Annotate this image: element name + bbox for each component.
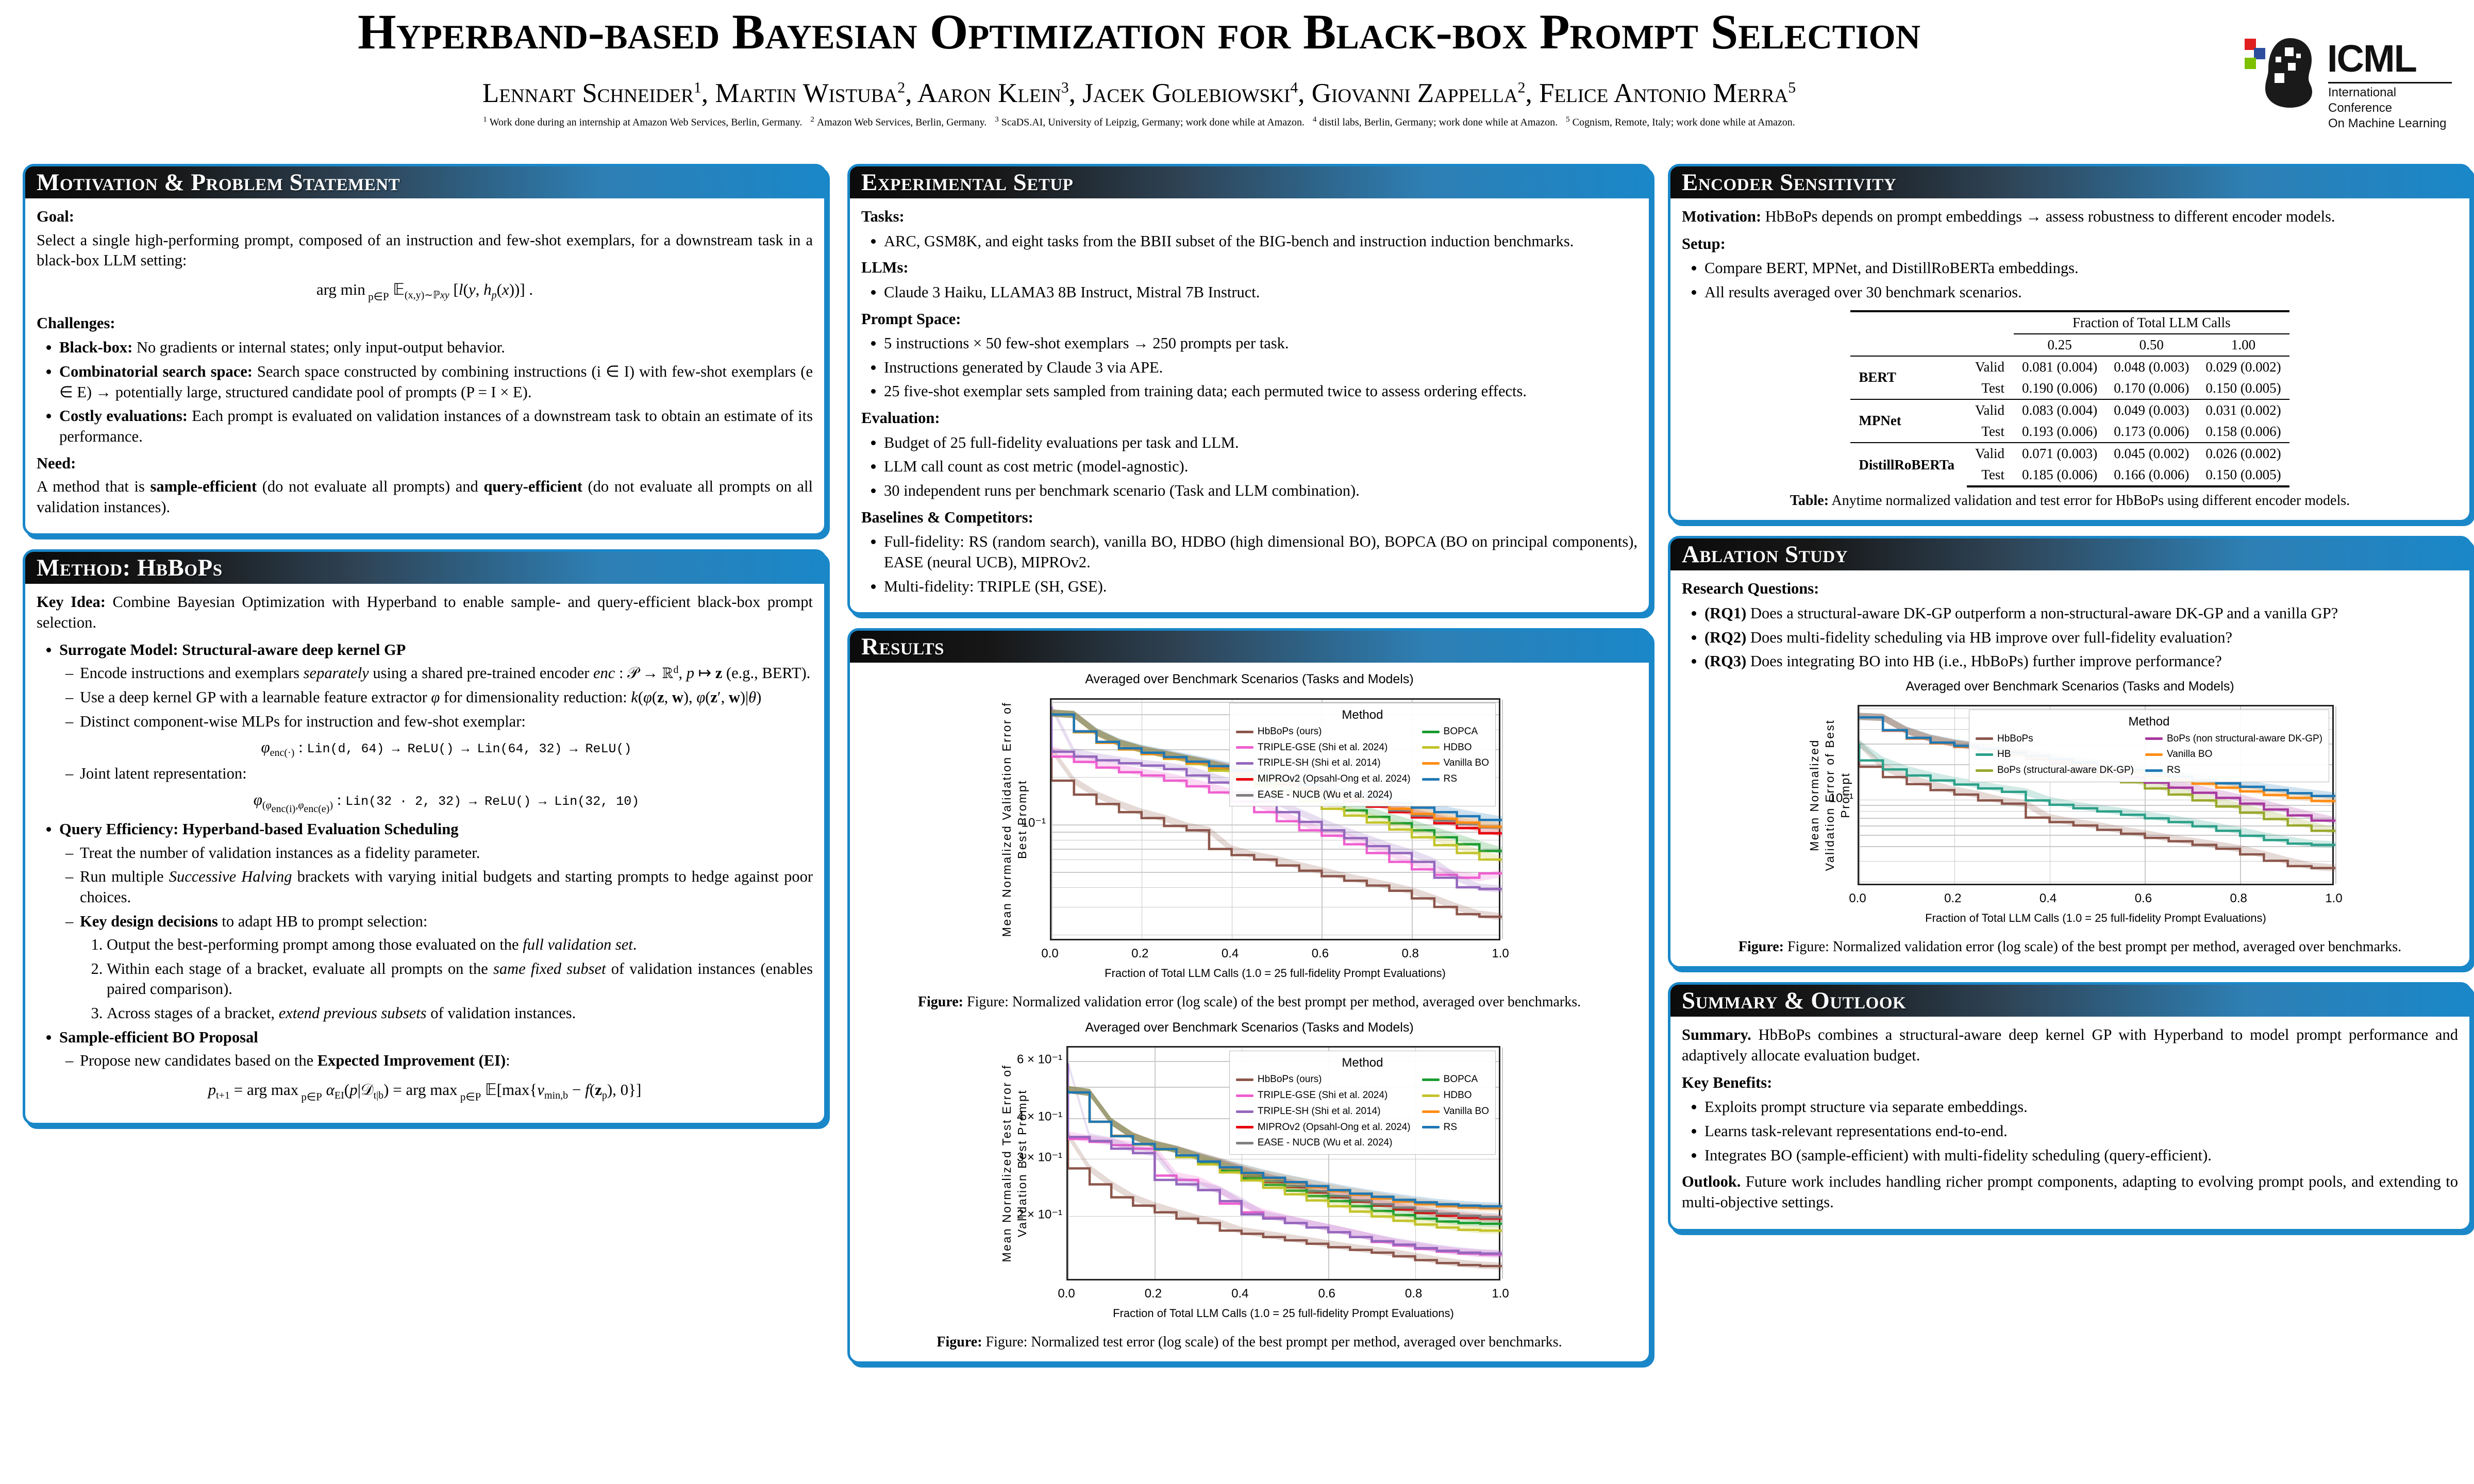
legend-label: BoPs (non structural-aware DK-GP) <box>2167 733 2322 746</box>
table-row: DistillRoBERTa Valid 0.071 (0.003) 0.045… <box>1850 443 2289 464</box>
list-item: Use a deep kernel GP with a learnable fe… <box>80 687 813 708</box>
gridline <box>1502 1048 1503 1279</box>
x-tick-label: 0.8 <box>1405 1286 1422 1302</box>
legend-swatch <box>2145 737 2163 740</box>
legend-item: BoPs (structural-aware DK-GP) <box>1976 764 2134 777</box>
legend-label: Vanilla BO <box>1444 1105 1489 1118</box>
key-idea: Key Idea: Combine Bayesian Optimization … <box>37 592 813 633</box>
research-questions-list: (RQ1) Does a structural-aware DK-GP outp… <box>1682 603 2458 672</box>
encoder-setup-list: Compare BERT, MPNet, and DistillRoBERTa … <box>1682 258 2458 302</box>
chart-legend: MethodHbBoPsHBBoPs (structural-aware DK-… <box>1969 710 2329 782</box>
chart-ablation-validation: Averaged over Benchmark Scenarios (Tasks… <box>1797 678 2343 935</box>
legend-swatch <box>2145 769 2163 772</box>
x-axis-label: Fraction of Total LLM Calls (1.0 = 25 fu… <box>1858 911 2334 926</box>
legend-title: Method <box>1236 1055 1489 1071</box>
list-item: All results averaged over 30 benchmark s… <box>1704 282 2458 303</box>
legend-label: EASE - NUCB (Wu et al. 2024) <box>1258 1137 1393 1150</box>
legend-item: MIPROv2 (Opsahl-Ong et al. 2024) <box>1236 773 1411 786</box>
chart-legend: MethodHbBoPs (ours)TRIPLE-GSE (Shi et al… <box>1229 1051 1496 1155</box>
chart-title: Averaged over Benchmark Scenarios (Tasks… <box>1797 678 2343 695</box>
y-tick-label: 10⁻¹ <box>1829 790 1853 806</box>
legend-swatch <box>1422 762 1440 765</box>
legend-label: HDBO <box>1444 741 1472 754</box>
legend-swatch <box>1236 762 1253 765</box>
outlook-text: Outlook. Future work includes handling r… <box>1682 1172 2458 1212</box>
icml-head-icon <box>2260 36 2319 109</box>
legend-label: HbBoPs (ours) <box>1258 1073 1322 1086</box>
x-axis-label: Fraction of Total LLM Calls (1.0 = 25 fu… <box>1050 966 1500 981</box>
legend-item: BOPCA <box>1422 1073 1489 1086</box>
figure-results-validation: Averaged over Benchmark Scenarios (Tasks… <box>861 671 1637 1011</box>
evaluation-label: Evaluation: <box>861 408 1637 429</box>
section-header-results: Results <box>850 631 1649 663</box>
plot-area: MethodHbBoPs (ours)TRIPLE-GSE (Shi et al… <box>1066 1046 1500 1280</box>
summary-text: Summary. HbBoPs combines a structural-aw… <box>1682 1025 2458 1066</box>
legend-item: HbBoPs <box>1976 733 2134 746</box>
list-item: Distinct component-wise MLPs for instruc… <box>80 712 813 760</box>
research-questions-label: Research Questions: <box>1682 579 2458 599</box>
legend-swatch <box>1236 794 1253 797</box>
logo-square-green <box>2245 58 2256 69</box>
y-tick-label: 2 × 10⁻¹ <box>1017 1206 1062 1222</box>
legend-item: TRIPLE-GSE (Shi et al. 2024) <box>1236 741 1411 754</box>
legend-label: BoPs (structural-aware DK-GP) <box>1997 764 2134 777</box>
legend-label: HbBoPs <box>1997 733 2033 746</box>
legend-label: HDBO <box>1444 1089 1472 1102</box>
list-item: (RQ3) Does integrating BO into HB (i.e.,… <box>1704 651 2458 672</box>
legend-item: RS <box>2145 764 2322 777</box>
legend-title: Method <box>1236 707 1489 723</box>
list-item: 30 independent runs per benchmark scenar… <box>884 481 1637 501</box>
section-header-motivation: Motivation & Problem Statement <box>25 166 824 198</box>
plot-area: MethodHbBoPs (ours)TRIPLE-GSE (Shi et al… <box>1050 698 1500 940</box>
table-span-header: Fraction of Total LLM Calls <box>2014 311 2289 334</box>
legend-swatch <box>1236 1078 1253 1081</box>
challenges-list: Black-box: No gradients or internal stat… <box>37 338 813 447</box>
challenges-label: Challenges: <box>37 313 813 334</box>
section-summary-outlook: Summary & Outlook Summary. HbBoPs combin… <box>1668 982 2472 1231</box>
figure-caption: Figure: Figure: Normalized validation er… <box>861 993 1637 1011</box>
mlp-equation: φenc(·) : Lin(d, 64) → ReLU() → Lin(64, … <box>80 737 813 760</box>
legend-item: EASE - NUCB (Wu et al. 2024) <box>1236 1137 1411 1150</box>
list-item: Within each stage of a bracket, evaluate… <box>107 959 813 1000</box>
list-item: Across stages of a bracket, extend previ… <box>107 1003 813 1024</box>
column-middle: Experimental Setup Tasks: ARC, GSM8K, an… <box>847 164 1651 1377</box>
ei-equation: pt+1 = arg max p∈P αEI(p|𝒟t|b) = arg max… <box>37 1080 813 1104</box>
list-item: Claude 3 Haiku, LLAMA3 8B Instruct, Mist… <box>884 282 1637 303</box>
legend-item: TRIPLE-SH (Shi et al. 2014) <box>1236 1105 1411 1118</box>
legend-item: BoPs (non structural-aware DK-GP) <box>2145 733 2322 746</box>
section-body-encoder: Motivation: HbBoPs depends on prompt emb… <box>1670 198 2469 520</box>
y-tick-label: 3 × 10⁻¹ <box>1017 1149 1062 1165</box>
key-benefits-list: Exploits prompt structure via separate e… <box>1682 1097 2458 1166</box>
list-item: Key design decisions to adapt HB to prom… <box>80 912 813 1024</box>
legend-label: RS <box>1444 773 1457 786</box>
list-item: Learns task-relevant representations end… <box>1704 1121 2458 1142</box>
joint-equation: φ(φenc(i),φenc(e)) : Lin(32 · 2, 32) → R… <box>80 789 813 816</box>
prompt-space-list: 5 instructions × 50 few-shot exemplars →… <box>861 333 1637 402</box>
list-item: Combinatorial search space: Search space… <box>59 362 813 402</box>
author-list: Lennart Schneider1, Martin Wistuba2, Aar… <box>62 78 2216 108</box>
encoder-results-table: Fraction of Total LLM Calls 0.25 0.50 1.… <box>1850 310 2289 488</box>
legend-label: RS <box>2167 764 2180 777</box>
list-item: Multi-fidelity: TRIPLE (SH, GSE). <box>884 577 1637 597</box>
icml-logo: ICML International ConferenceOn Machine … <box>2245 18 2461 121</box>
table-caption: Table: Anytime normalized validation and… <box>1682 492 2458 510</box>
legend-swatch <box>1422 1078 1440 1081</box>
list-item: 5 instructions × 50 few-shot exemplars →… <box>884 333 1637 354</box>
column-left: Motivation & Problem Statement Goal: Sel… <box>23 164 827 1139</box>
list-item: LLM call count as cost metric (model-agn… <box>884 457 1637 477</box>
legend-swatch <box>1236 746 1253 749</box>
legend-label: MIPROv2 (Opsahl-Ong et al. 2024) <box>1258 773 1411 786</box>
section-header-encoder: Encoder Sensitivity <box>1670 166 2469 198</box>
gridline <box>1502 700 1503 939</box>
plot-area: MethodHbBoPsHBBoPs (structural-aware DK-… <box>1858 705 2334 885</box>
method-list: Surrogate Model: Structural-aware deep k… <box>37 640 813 1071</box>
section-encoder-sensitivity: Encoder Sensitivity Motivation: HbBoPs d… <box>1668 164 2472 522</box>
key-benefits-label: Key Benefits: <box>1682 1073 2458 1093</box>
list-item: Budget of 25 full-fidelity evaluations p… <box>884 433 1637 453</box>
legend-label: TRIPLE-SH (Shi et al. 2014) <box>1258 757 1381 770</box>
table-header-row: Fraction of Total LLM Calls <box>1850 311 2289 334</box>
x-tick-label: 0.8 <box>1402 946 1419 962</box>
tasks-label: Tasks: <box>861 207 1637 227</box>
llms-label: LLMs: <box>861 258 1637 278</box>
affiliations: 1 Work done during an internship at Amaz… <box>155 114 2124 130</box>
x-tick-label: 1.0 <box>1492 946 1509 962</box>
section-body-experimental: Tasks: ARC, GSM8K, and eight tasks from … <box>850 198 1649 612</box>
legend-swatch <box>1976 737 1993 740</box>
poster-header: Hyperband-based Bayesian Optimization fo… <box>0 0 2474 155</box>
figure-caption: Figure: Figure: Normalized test error (l… <box>861 1333 1637 1351</box>
section-ablation-study: Ablation Study Research Questions: (RQ1)… <box>1668 536 2472 969</box>
list-item: Query Efficiency: Hyperband-based Evalua… <box>59 819 813 1024</box>
table-header-row: 0.25 0.50 1.00 <box>1850 334 2289 356</box>
evaluation-list: Budget of 25 full-fidelity evaluations p… <box>861 433 1637 501</box>
bo-sublist: Propose new candidates based on the Expe… <box>59 1051 813 1071</box>
design-decisions: Output the best-performing prompt among … <box>80 935 813 1024</box>
column-header: 0.25 <box>2014 334 2105 356</box>
legend-item: HDBO <box>1422 1089 1489 1102</box>
encoder-motivation: Motivation: HbBoPs depends on prompt emb… <box>1682 207 2458 227</box>
legend-title: Method <box>1976 714 2322 730</box>
legend-item: EASE - NUCB (Wu et al. 2024) <box>1236 789 1411 802</box>
list-item: Sample-efficient BO Proposal Propose new… <box>59 1027 813 1071</box>
objective-equation: arg min p∈P 𝔼(x,y)∼ℙxy [l(y, hp(x))] . <box>37 279 813 304</box>
figure-results-test: Averaged over Benchmark Scenarios (Tasks… <box>861 1019 1637 1352</box>
section-body-results: Averaged over Benchmark Scenarios (Tasks… <box>850 663 1649 1361</box>
x-tick-label: 0.4 <box>2040 890 2057 906</box>
legend-item: TRIPLE-GSE (Shi et al. 2024) <box>1236 1089 1411 1102</box>
section-results: Results Averaged over Benchmark Scenario… <box>847 628 1651 1364</box>
section-body-ablation: Research Questions: (RQ1) Does a structu… <box>1670 570 2469 966</box>
legend-label: TRIPLE-SH (Shi et al. 2014) <box>1258 1105 1381 1118</box>
tasks-list: ARC, GSM8K, and eight tasks from the BBI… <box>861 231 1637 252</box>
column-header: 0.50 <box>2105 334 2197 356</box>
x-tick-label: 0.6 <box>2135 890 2152 906</box>
legend-label: RS <box>1444 1121 1457 1134</box>
legend-item: Vanilla BO <box>1422 1105 1489 1118</box>
x-tick-label: 0.2 <box>1131 946 1148 962</box>
prompt-space-label: Prompt Space: <box>861 309 1637 330</box>
legend-swatch <box>1236 778 1253 781</box>
list-item: Treat the number of validation instances… <box>80 843 813 864</box>
section-body-method: Key Idea: Combine Bayesian Optimization … <box>25 584 824 1122</box>
logo-wordmark: ICML <box>2327 40 2416 78</box>
legend-swatch <box>2145 753 2163 756</box>
legend-label: TRIPLE-GSE (Shi et al. 2024) <box>1258 1089 1388 1102</box>
x-tick-label: 0.2 <box>1145 1286 1162 1302</box>
legend-item: RS <box>1422 1121 1489 1134</box>
x-tick-label: 0.6 <box>1312 946 1329 962</box>
legend-item: MIPROv2 (Opsahl-Ong et al. 2024) <box>1236 1121 1411 1134</box>
x-tick-label: 0.8 <box>2230 890 2247 906</box>
legend-swatch <box>1422 1094 1440 1097</box>
list-item: Instructions generated by Claude 3 via A… <box>884 358 1637 378</box>
section-experimental-setup: Experimental Setup Tasks: ARC, GSM8K, an… <box>847 164 1651 615</box>
legend-item: Vanilla BO <box>2145 748 2322 761</box>
legend-swatch <box>1976 753 1993 756</box>
legend-item: Vanilla BO <box>1422 757 1489 770</box>
x-tick-label: 0.0 <box>1058 1286 1075 1302</box>
legend-label: TRIPLE-GSE (Shi et al. 2024) <box>1258 741 1388 754</box>
legend-swatch <box>1236 1110 1253 1113</box>
legend-label: Vanilla BO <box>2167 748 2212 761</box>
legend-item: HbBoPs (ours) <box>1236 1073 1411 1086</box>
need-label: Need: <box>37 453 813 474</box>
list-item: (RQ1) Does a structural-aware DK-GP outp… <box>1704 603 2458 624</box>
query-sublist: Treat the number of validation instances… <box>59 843 813 1024</box>
x-tick-label: 0.2 <box>1944 890 1961 906</box>
column-header: 1.00 <box>2197 334 2289 356</box>
encoder-setup-label: Setup: <box>1682 234 2458 255</box>
goal-label: Goal: <box>37 207 813 227</box>
list-item: Compare BERT, MPNet, and DistillRoBERTa … <box>1704 258 2458 279</box>
y-tick-label: 4 × 10⁻¹ <box>1017 1109 1062 1125</box>
list-item: (RQ2) Does multi-fidelity scheduling via… <box>1704 628 2458 648</box>
surrogate-sublist: Encode instructions and exemplars separa… <box>59 663 813 816</box>
legend-swatch <box>1422 746 1440 749</box>
x-tick-label: 1.0 <box>1492 1286 1509 1302</box>
section-body-motivation: Goal: Select a single high-performing pr… <box>25 198 824 533</box>
poster-root: Hyperband-based Bayesian Optimization fo… <box>0 0 2474 1484</box>
list-item: Full-fidelity: RS (random search), vanil… <box>884 532 1637 572</box>
chart-results-validation: Averaged over Benchmark Scenarios (Tasks… <box>989 671 1510 990</box>
section-motivation: Motivation & Problem Statement Goal: Sel… <box>23 164 827 536</box>
table-row: BERT Valid 0.081 (0.004) 0.048 (0.003) 0… <box>1850 356 2289 378</box>
logo-subtitle: International ConferenceOn Machine Learn… <box>2328 85 2461 131</box>
legend-swatch <box>1236 1126 1253 1128</box>
baselines-label: Baselines & Competitors: <box>861 508 1637 528</box>
chart-title: Averaged over Benchmark Scenarios (Tasks… <box>989 1019 1510 1036</box>
x-axis-label: Fraction of Total LLM Calls (1.0 = 25 fu… <box>1066 1306 1500 1321</box>
logo-divider <box>2328 82 2452 83</box>
list-item: Surrogate Model: Structural-aware deep k… <box>59 640 813 816</box>
legend-item: HB <box>1976 748 2134 761</box>
x-tick-label: 0.0 <box>1041 946 1058 962</box>
llms-list: Claude 3 Haiku, LLAMA3 8B Instruct, Mist… <box>861 282 1637 303</box>
list-item: Output the best-performing prompt among … <box>107 935 813 955</box>
chart-results-test: Averaged over Benchmark Scenarios (Tasks… <box>989 1019 1510 1330</box>
section-body-summary: Summary. HbBoPs combines a structural-aw… <box>1670 1017 2469 1228</box>
list-item: 25 five-shot exemplar sets sampled from … <box>884 381 1637 402</box>
legend-label: EASE - NUCB (Wu et al. 2024) <box>1258 789 1393 802</box>
table-row: MPNet Valid 0.083 (0.004) 0.049 (0.003) … <box>1850 399 2289 421</box>
legend-swatch <box>1422 778 1440 781</box>
section-header-ablation: Ablation Study <box>1670 538 2469 570</box>
legend-item: BOPCA <box>1422 726 1489 738</box>
x-tick-label: 1.0 <box>2325 890 2342 906</box>
list-item: ARC, GSM8K, and eight tasks from the BBI… <box>884 231 1637 252</box>
legend-label: Vanilla BO <box>1444 757 1489 770</box>
legend-item: HDBO <box>1422 741 1489 754</box>
section-header-method: Method: HbBoPs <box>25 552 824 584</box>
x-tick-label: 0.4 <box>1231 1286 1248 1302</box>
y-tick-label: 6 × 10⁻¹ <box>1017 1052 1062 1068</box>
y-tick-label: 10⁻¹ <box>1022 815 1046 831</box>
column-right: Encoder Sensitivity Motivation: HbBoPs d… <box>1668 164 2472 1245</box>
list-item: Black-box: No gradients or internal stat… <box>59 338 813 358</box>
legend-swatch <box>1422 1110 1440 1113</box>
section-header-summary: Summary & Outlook <box>1670 985 2469 1017</box>
list-item: Exploits prompt structure via separate e… <box>1704 1097 2458 1118</box>
legend-label: BOPCA <box>1444 726 1478 738</box>
chart-title: Averaged over Benchmark Scenarios (Tasks… <box>989 671 1510 688</box>
goal-text: Select a single high-performing prompt, … <box>37 230 813 271</box>
list-item: Integrates BO (sample-efficient) with mu… <box>1704 1145 2458 1166</box>
figure-ablation: Averaged over Benchmark Scenarios (Tasks… <box>1682 678 2458 956</box>
list-item: Costly evaluations: Each prompt is evalu… <box>59 406 813 447</box>
legend-swatch <box>1236 731 1253 733</box>
legend-label: HbBoPs (ours) <box>1258 726 1322 738</box>
legend-swatch <box>1422 1126 1440 1128</box>
legend-label: MIPROv2 (Opsahl-Ong et al. 2024) <box>1258 1121 1411 1134</box>
legend-item: RS <box>1422 773 1489 786</box>
gridline <box>2335 706 2336 884</box>
legend-swatch <box>1422 731 1440 733</box>
page-title: Hyperband-based Bayesian Optimization fo… <box>62 5 2216 59</box>
x-tick-label: 0.0 <box>1849 890 1866 906</box>
list-item: Propose new candidates based on the Expe… <box>80 1051 813 1071</box>
legend-swatch <box>1976 769 1993 772</box>
legend-swatch <box>1236 1142 1253 1144</box>
x-tick-label: 0.6 <box>1318 1286 1335 1302</box>
need-text: A method that is sample-efficient (do no… <box>37 477 813 517</box>
legend-label: HB <box>1997 748 2011 761</box>
legend-item: TRIPLE-SH (Shi et al. 2014) <box>1236 757 1411 770</box>
list-item: Run multiple Successive Halving brackets… <box>80 867 813 907</box>
list-item: Encode instructions and exemplars separa… <box>80 663 813 684</box>
baselines-list: Full-fidelity: RS (random search), vanil… <box>861 532 1637 597</box>
legend-item: HbBoPs (ours) <box>1236 726 1411 738</box>
figure-caption: Figure: Figure: Normalized validation er… <box>1682 938 2458 956</box>
chart-legend: MethodHbBoPs (ours)TRIPLE-GSE (Shi et al… <box>1229 703 1496 807</box>
section-method: Method: HbBoPs Key Idea: Combine Bayesia… <box>23 549 827 1125</box>
legend-label: BOPCA <box>1444 1073 1478 1086</box>
legend-swatch <box>1236 1094 1253 1097</box>
x-tick-label: 0.4 <box>1222 946 1239 962</box>
list-item: Joint latent representation: φ(φenc(i),φ… <box>80 764 813 816</box>
section-header-experimental: Experimental Setup <box>850 166 1649 198</box>
